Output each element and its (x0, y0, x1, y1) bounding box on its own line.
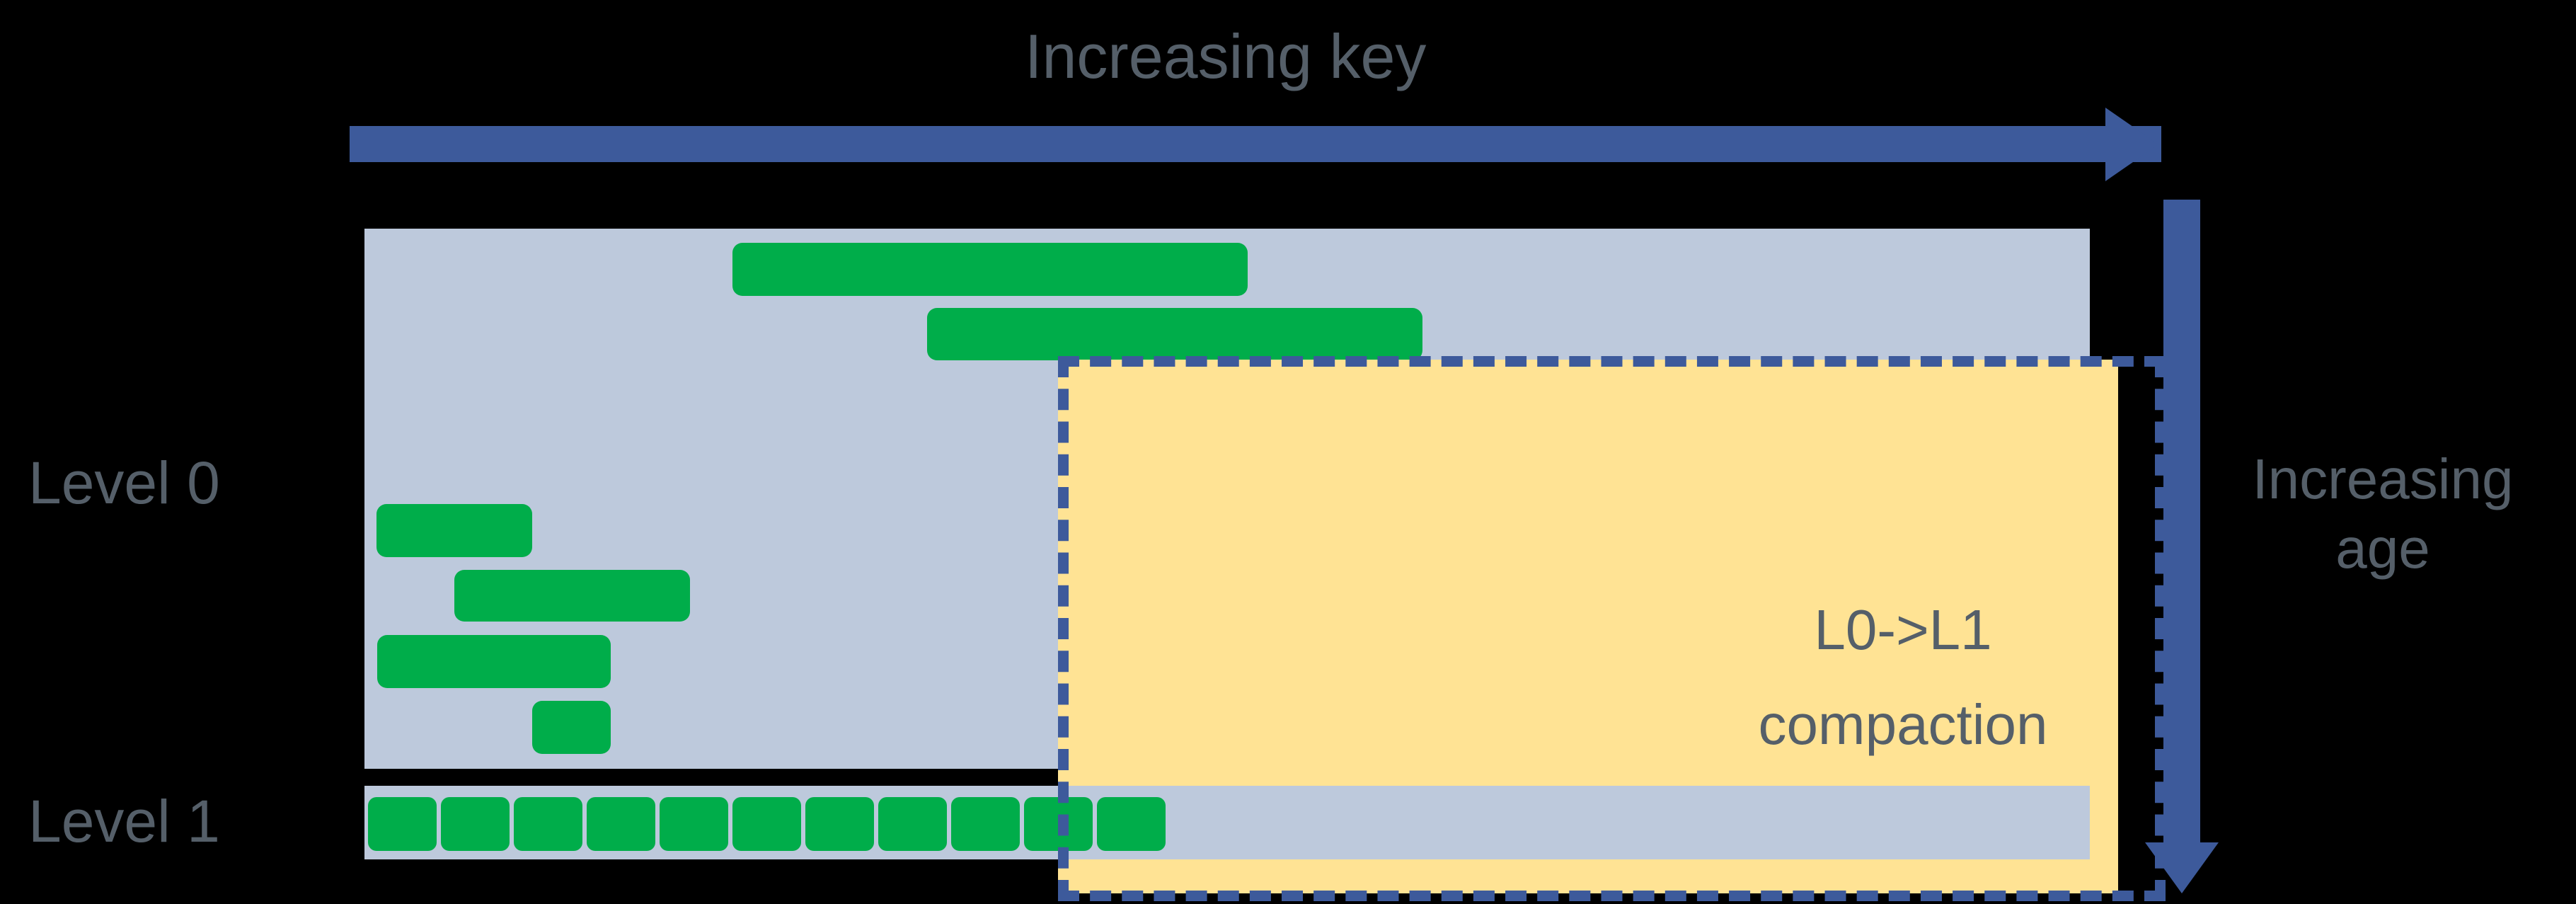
level-1-sstable (732, 797, 801, 851)
level-0-row-label: Level 0 (28, 453, 220, 513)
compaction-annotation-line1: L0->L1 (1814, 598, 1991, 661)
level-0-run-bar (732, 243, 1248, 296)
level-1-sstable (514, 797, 582, 851)
level-1-sstable (951, 797, 1020, 851)
level-1-sstable-list (368, 797, 1166, 851)
compaction-annotation-line2: compaction (1758, 693, 2047, 756)
level-0-run-bar (454, 570, 690, 622)
level-1-sstable (441, 797, 510, 851)
diagram-canvas: Increasing key Increasing age Level 0 Le… (0, 0, 2576, 904)
level-1-sstable (878, 797, 947, 851)
increasing-age-arrow-shaft (2163, 200, 2200, 865)
level-1-sstable (805, 797, 874, 851)
increasing-key-arrow-shaft (350, 126, 2161, 162)
level-0-run-bar (532, 701, 611, 754)
increasing-age-label: Increasing age (2216, 445, 2549, 583)
level-0-run-bar (376, 504, 532, 557)
level-1-row-label: Level 1 (28, 791, 220, 851)
level-1-sstable (368, 797, 437, 851)
level-0-run-bar (927, 308, 1422, 360)
compaction-annotation-label: L0->L1compaction (1701, 583, 2105, 773)
right-arrow-icon (2105, 108, 2158, 181)
level-1-sstable (660, 797, 728, 851)
level-0-run-bar (377, 635, 611, 688)
increasing-key-label: Increasing key (1025, 25, 1426, 88)
level-1-sstable (587, 797, 655, 851)
